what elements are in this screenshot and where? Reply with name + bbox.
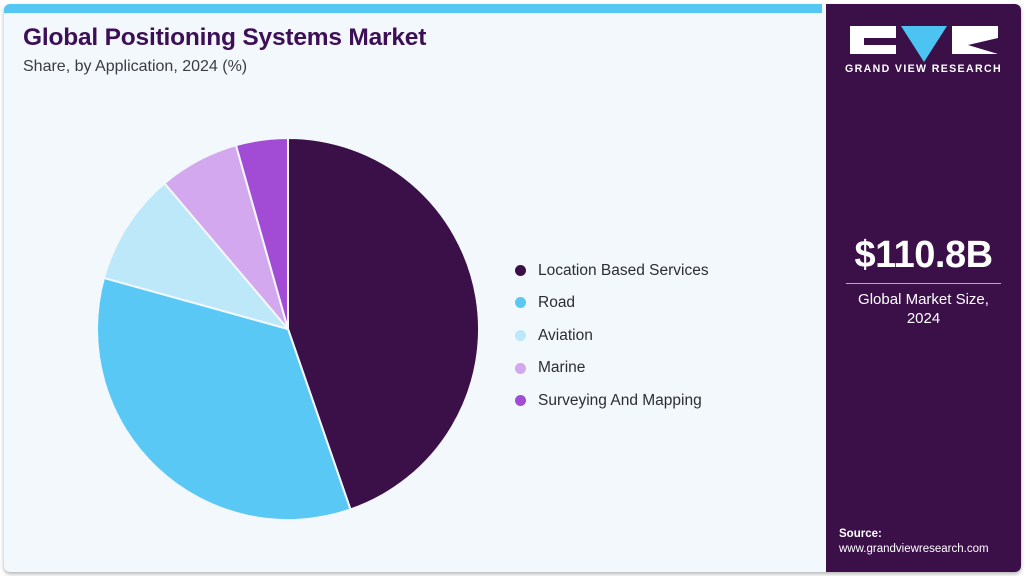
- side-panel: GRAND VIEW RESEARCH $110.8B Global Marke…: [826, 4, 1021, 572]
- legend-swatch-icon: [515, 265, 526, 276]
- pie-slice-group: [97, 138, 479, 520]
- source-url[interactable]: www.grandviewresearch.com: [839, 542, 1021, 558]
- page-subtitle: Share, by Application, 2024 (%): [23, 57, 783, 76]
- infographic-card: Global Positioning Systems Market Share,…: [4, 4, 1021, 572]
- source-label: Source:: [839, 527, 1021, 543]
- gvr-g-mark-icon: [850, 26, 896, 54]
- header: Global Positioning Systems Market Share,…: [23, 24, 783, 76]
- gvr-r-mark-icon: [952, 26, 998, 54]
- legend-label: Marine: [538, 360, 585, 376]
- stat-divider: [846, 283, 1001, 284]
- page-title: Global Positioning Systems Market: [23, 24, 783, 53]
- legend-swatch-icon: [515, 395, 526, 406]
- chart-legend: Location Based Services Road Aviation Ma…: [515, 254, 805, 417]
- legend-item-aviation[interactable]: Aviation: [515, 319, 805, 352]
- legend-label: Surveying And Mapping: [538, 393, 702, 409]
- headline-stat: $110.8B Global Market Size, 2024: [826, 236, 1021, 329]
- legend-item-road[interactable]: Road: [515, 287, 805, 320]
- legend-item-location-based-services[interactable]: Location Based Services: [515, 254, 805, 287]
- legend-swatch-icon: [515, 363, 526, 374]
- pie-chart-svg: [94, 135, 482, 523]
- legend-swatch-icon: [515, 297, 526, 308]
- stat-value: $110.8B: [826, 236, 1021, 276]
- brand-logo[interactable]: GRAND VIEW RESEARCH: [826, 26, 1021, 75]
- infographic-root: Global Positioning Systems Market Share,…: [0, 0, 1025, 576]
- legend-label: Location Based Services: [538, 263, 709, 279]
- accent-top-bar: [4, 4, 822, 13]
- legend-item-surveying-and-mapping[interactable]: Surveying And Mapping: [515, 384, 805, 417]
- legend-item-marine[interactable]: Marine: [515, 352, 805, 385]
- brand-name: GRAND VIEW RESEARCH: [826, 63, 1021, 75]
- legend-label: Aviation: [538, 328, 593, 344]
- stat-caption: Global Market Size, 2024: [826, 290, 1021, 329]
- logo-marks: [826, 26, 1021, 56]
- legend-label: Road: [538, 295, 575, 311]
- source-block: Source: www.grandviewresearch.com: [839, 527, 1021, 558]
- legend-swatch-icon: [515, 330, 526, 341]
- pie-chart: [94, 135, 482, 523]
- gvr-v-triangle-icon: [901, 26, 947, 62]
